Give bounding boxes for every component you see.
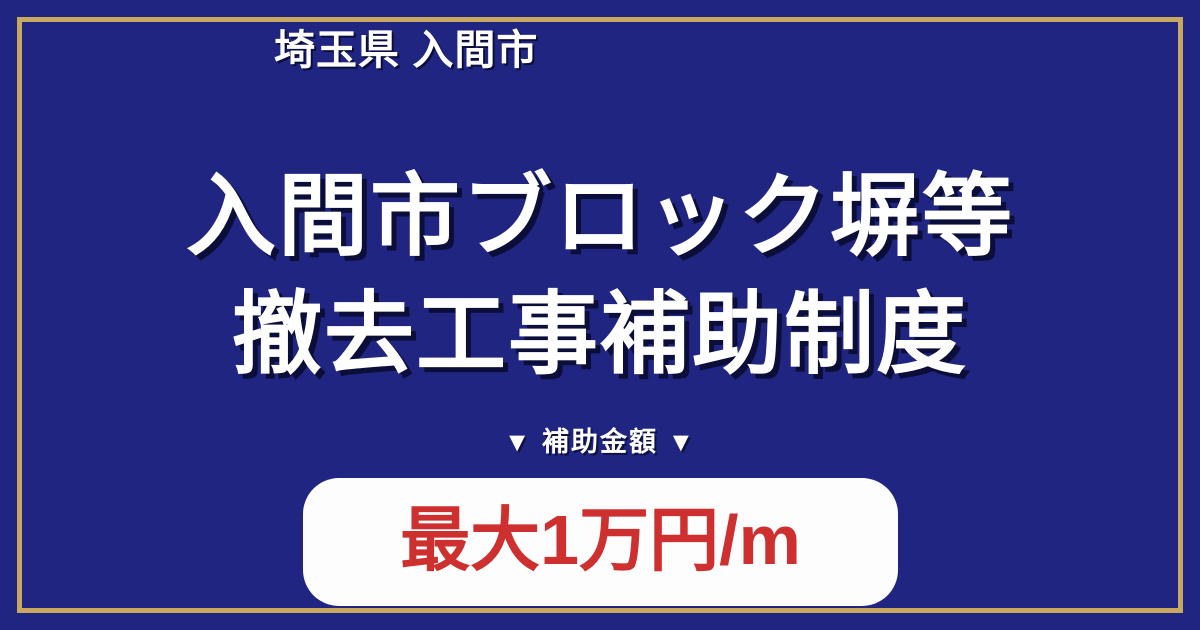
amount-badge-text: 最大1万円/m <box>400 505 801 575</box>
page-title-line-1: 入間市ブロック塀等 <box>0 158 1200 276</box>
subsidy-banner: 埼玉県 入間市 入間市ブロック塀等 撤去工事補助制度 ▼ 補助金額 ▼ 最大1万… <box>0 0 1200 630</box>
page-title: 入間市ブロック塀等 撤去工事補助制度 <box>0 158 1200 394</box>
subsidy-amount-label-text: ▼ 補助金額 ▼ <box>504 427 696 457</box>
page-title-line-2: 撤去工事補助制度 <box>0 276 1200 394</box>
subsidy-amount-label: ▼ 補助金額 ▼ <box>0 426 1200 458</box>
location-header: 埼玉県 入間市 <box>274 24 974 76</box>
location-header-text: 埼玉県 入間市 <box>274 30 538 71</box>
amount-badge: 最大1万円/m <box>303 478 898 606</box>
